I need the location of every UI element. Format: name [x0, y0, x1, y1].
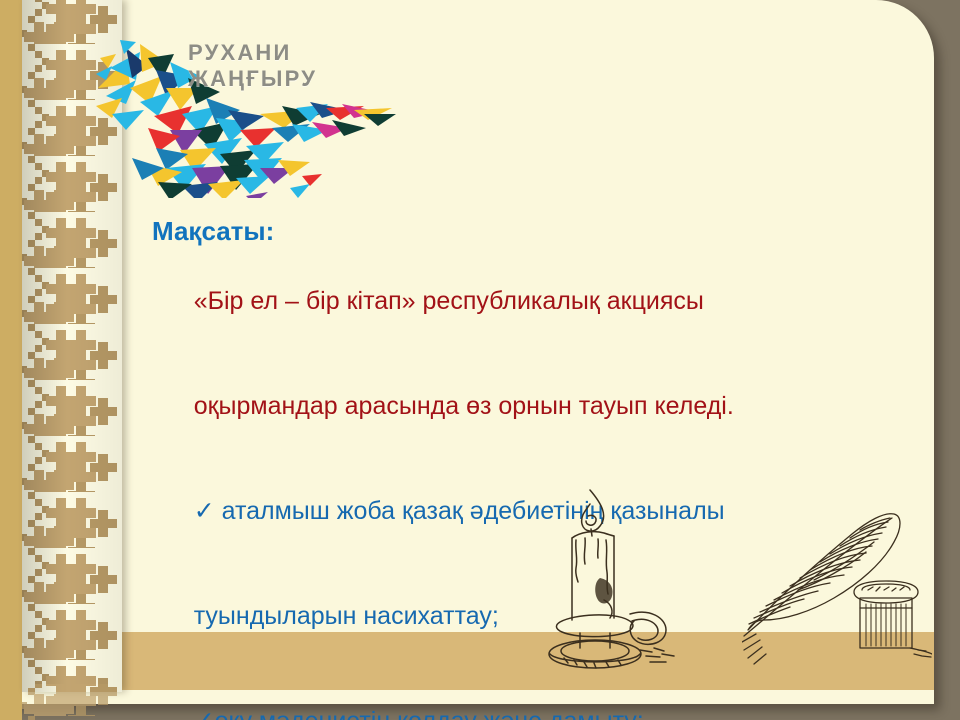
ornament-tail	[22, 684, 122, 720]
text-line-3-label: туындыларын насихаттау;	[194, 602, 499, 630]
candle-sketch-icon	[528, 482, 688, 672]
ruhani-zhangyru-logo: РУХАНИ ЖАҢҒЫРУ	[96, 18, 396, 198]
text-line-1: «Бір ел – бір кітап» республикалық акция…	[152, 249, 872, 354]
text-line-1-label: «Бір ел – бір кітап» республикалық акция…	[194, 287, 704, 315]
quill-and-inkwell-sketch-icon	[742, 470, 932, 670]
kazakh-meander-ornament-tail-icon	[22, 684, 122, 720]
checkmark-icon: ✓	[194, 707, 215, 720]
slide-canvas: РУХАНИ ЖАҢҒЫРУ Мақсаты: «Бір ел – бір кі…	[0, 0, 960, 720]
page-title: Мақсаты:	[152, 214, 872, 249]
bullet-line-2: ✓оқу мәдениетін қолдау және дамыту;	[152, 669, 872, 720]
bullet-line-2-label: оқу мәдениетін қолдау және дамыту;	[215, 707, 644, 720]
left-gold-strip	[0, 0, 22, 720]
logo-wordmark: РУХАНИ ЖАҢҒЫРУ	[188, 40, 317, 92]
text-line-2-label: оқырмандар арасында өз орнын тауып келед…	[194, 392, 734, 420]
checkmark-icon: ✓	[194, 497, 215, 525]
text-line-2: оқырмандар арасында өз орнын тауып келед…	[152, 354, 872, 459]
